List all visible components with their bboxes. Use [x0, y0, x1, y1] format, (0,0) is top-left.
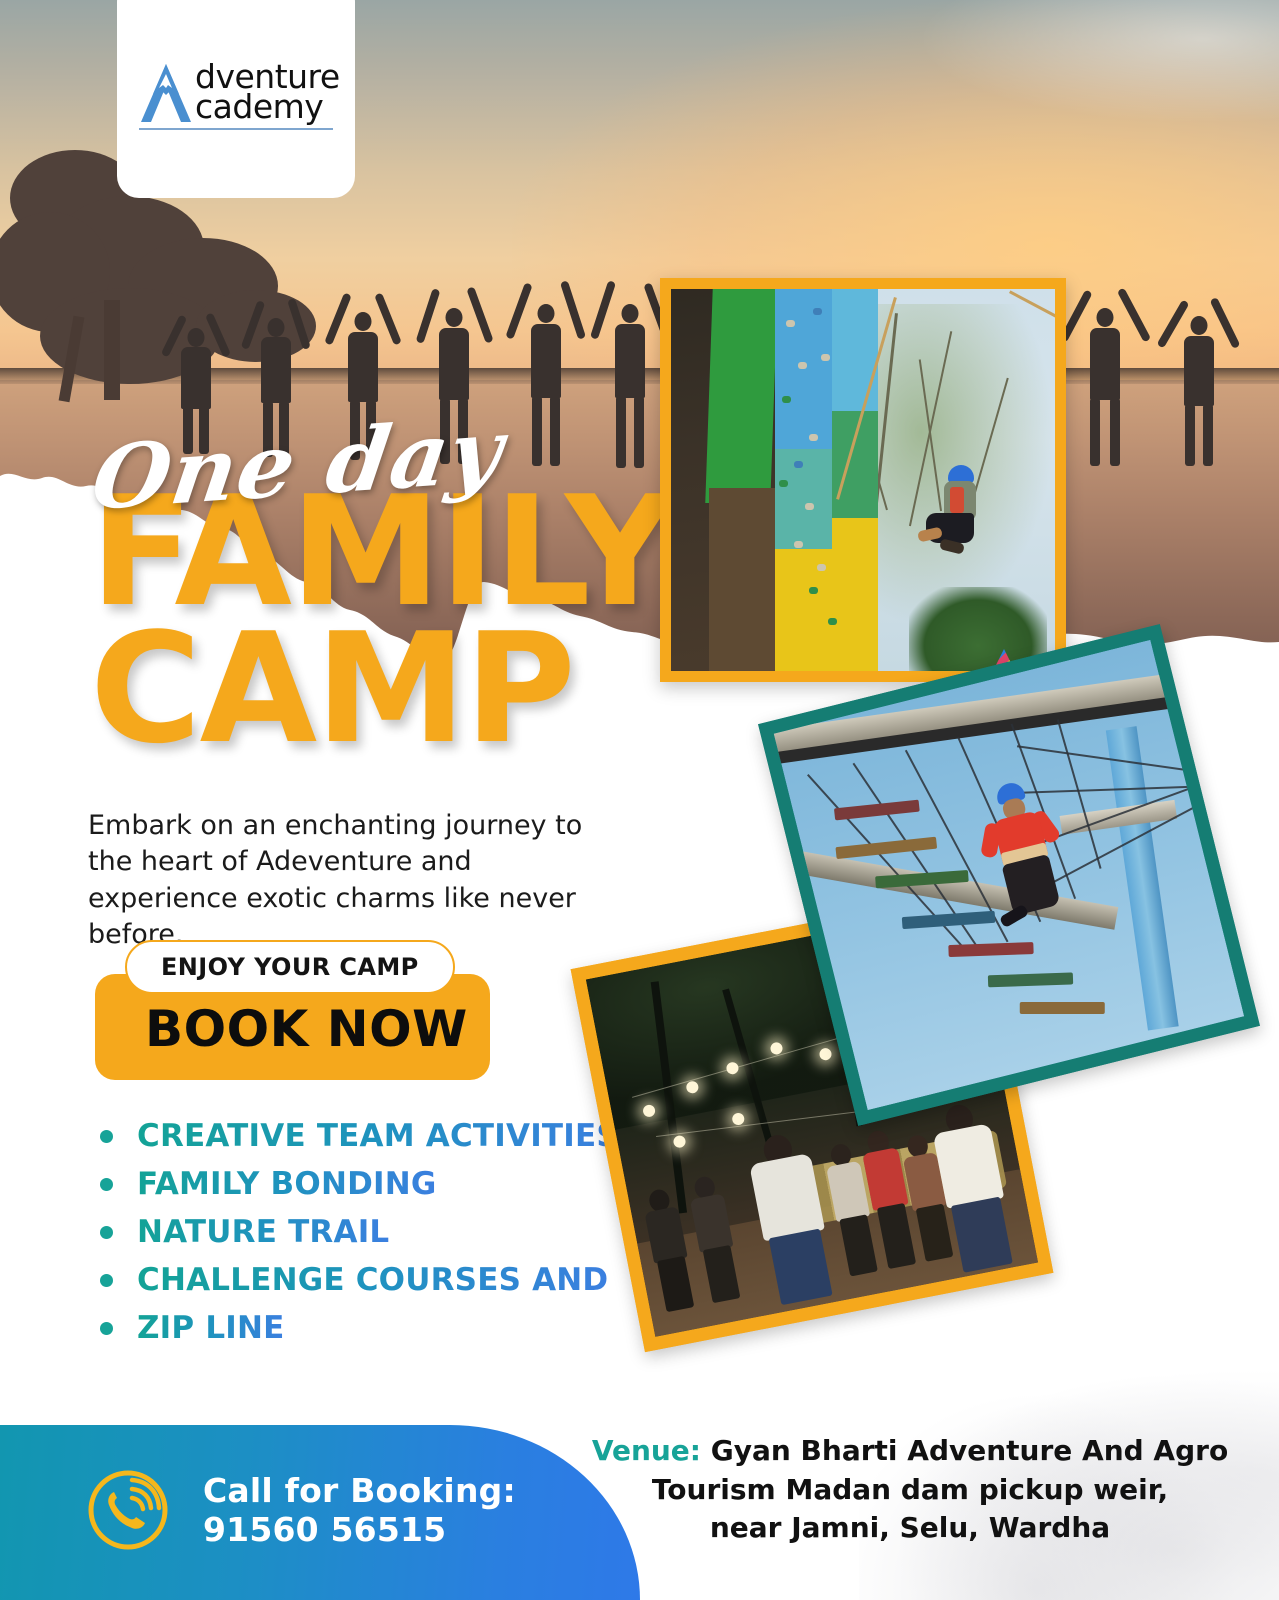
venue-label: Venue:: [592, 1434, 701, 1467]
venue-line2: Tourism Madan dam pickup weir,: [652, 1473, 1168, 1506]
feature-list: CREATIVE TEAM ACTIVITIES FAMILY BONDING …: [100, 1118, 619, 1358]
bullet-dot-icon: [100, 1274, 113, 1287]
headline-script: One day: [87, 406, 508, 522]
feature-label: NATURE TRAIL: [137, 1214, 389, 1250]
list-item: CREATIVE TEAM ACTIVITIES: [100, 1118, 619, 1154]
list-item: ZIP LINE: [100, 1310, 619, 1346]
list-item: NATURE TRAIL: [100, 1214, 619, 1250]
phone-number[interactable]: 91560 56515: [203, 1511, 516, 1550]
phone-ringing-icon: [86, 1468, 170, 1552]
cta-group: ENJOY YOUR CAMP BOOK NOW: [95, 940, 490, 1080]
enjoy-your-camp-pill[interactable]: ENJOY YOUR CAMP: [125, 940, 455, 994]
feature-label: CHALLENGE COURSES AND: [137, 1262, 608, 1298]
mountain-a-logo-icon: [139, 62, 193, 124]
logo-underline: [139, 128, 333, 130]
bullet-dot-icon: [100, 1322, 113, 1335]
bullet-dot-icon: [100, 1178, 113, 1191]
call-label: Call for Booking:: [203, 1472, 516, 1511]
bullet-dot-icon: [100, 1130, 113, 1143]
climber-figure: [924, 465, 994, 555]
feature-label: FAMILY BONDING: [137, 1166, 437, 1202]
bullet-dot-icon: [100, 1226, 113, 1239]
list-item: CHALLENGE COURSES AND: [100, 1262, 619, 1298]
climbing-wall-photo: [660, 278, 1066, 682]
venue-line1: Gyan Bharti Adventure And Agro: [711, 1434, 1228, 1467]
page-title: FAMILY CAMP: [90, 484, 673, 758]
feature-label: CREATIVE TEAM ACTIVITIES: [137, 1118, 619, 1154]
venue-block: Venue: Gyan Bharti Adventure And Agro To…: [590, 1432, 1230, 1548]
logo-text-line2: cademy: [195, 92, 340, 122]
page-title-line2: CAMP: [90, 621, 673, 758]
venue-line3: near Jamni, Selu, Wardha: [710, 1511, 1110, 1544]
brand-logo-card[interactable]: dventure cademy: [117, 0, 355, 198]
cloud-wisp: [895, 0, 1279, 130]
lead-paragraph: Embark on an enchanting journey to the h…: [88, 808, 628, 954]
call-booking-block: Call for Booking: 91560 56515: [203, 1472, 516, 1550]
feature-label: ZIP LINE: [137, 1310, 285, 1346]
list-item: FAMILY BONDING: [100, 1166, 619, 1202]
